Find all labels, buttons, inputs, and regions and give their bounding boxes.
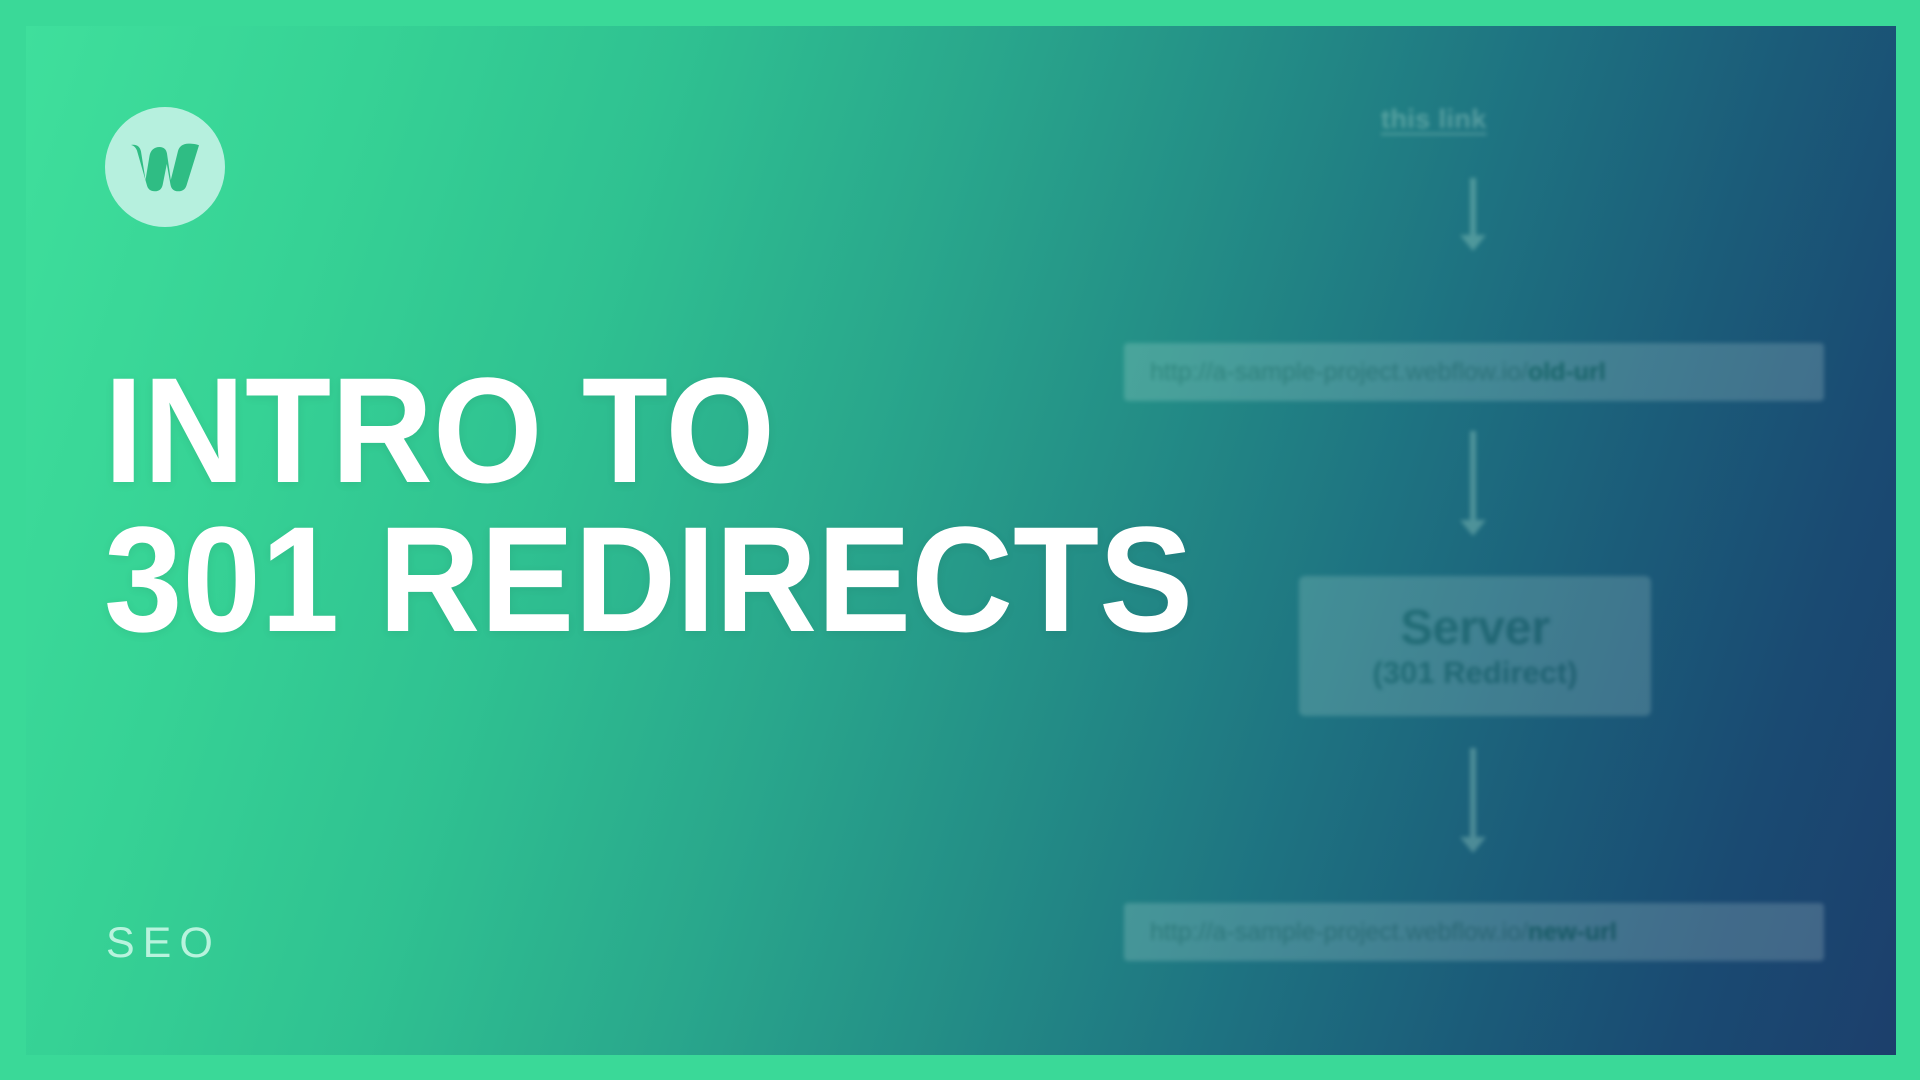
diagram-server-box: Server (301 Redirect): [1299, 576, 1651, 716]
webflow-logo-badge: [105, 107, 225, 227]
gradient-canvas: this link http://a-sample-project.webflo…: [26, 26, 1896, 1055]
diagram-old-url-prefix: http://a-sample-project.webflow.io/: [1150, 358, 1528, 387]
diagram-new-url-prefix: http://a-sample-project.webflow.io/: [1150, 918, 1528, 947]
category-label: SEO: [106, 919, 221, 968]
diagram-this-link-label: this link: [1381, 104, 1487, 135]
webflow-logo-icon: [128, 142, 202, 192]
page-title: INTRO TO 301 REDIRECTS: [104, 356, 1193, 653]
diagram-old-url-box: http://a-sample-project.webflow.io/old-u…: [1124, 343, 1824, 401]
diagram-server-title: Server: [1400, 604, 1550, 653]
diagram-arrow-down-icon-3: [1470, 748, 1476, 840]
diagram-old-url-slug: old-url: [1528, 358, 1606, 387]
diagram-new-url-box: http://a-sample-project.webflow.io/new-u…: [1124, 903, 1824, 961]
diagram-arrow-down-icon-2: [1470, 431, 1476, 523]
diagram-new-url-slug: new-url: [1528, 918, 1617, 947]
diagram-server-subtitle: (301 Redirect): [1372, 657, 1577, 688]
page-title-line-1: INTRO TO: [104, 356, 1193, 505]
page-title-line-2: 301 REDIRECTS: [104, 505, 1193, 654]
video-thumbnail: this link http://a-sample-project.webflo…: [0, 0, 1920, 1080]
diagram-arrow-down-icon-1: [1470, 178, 1476, 238]
